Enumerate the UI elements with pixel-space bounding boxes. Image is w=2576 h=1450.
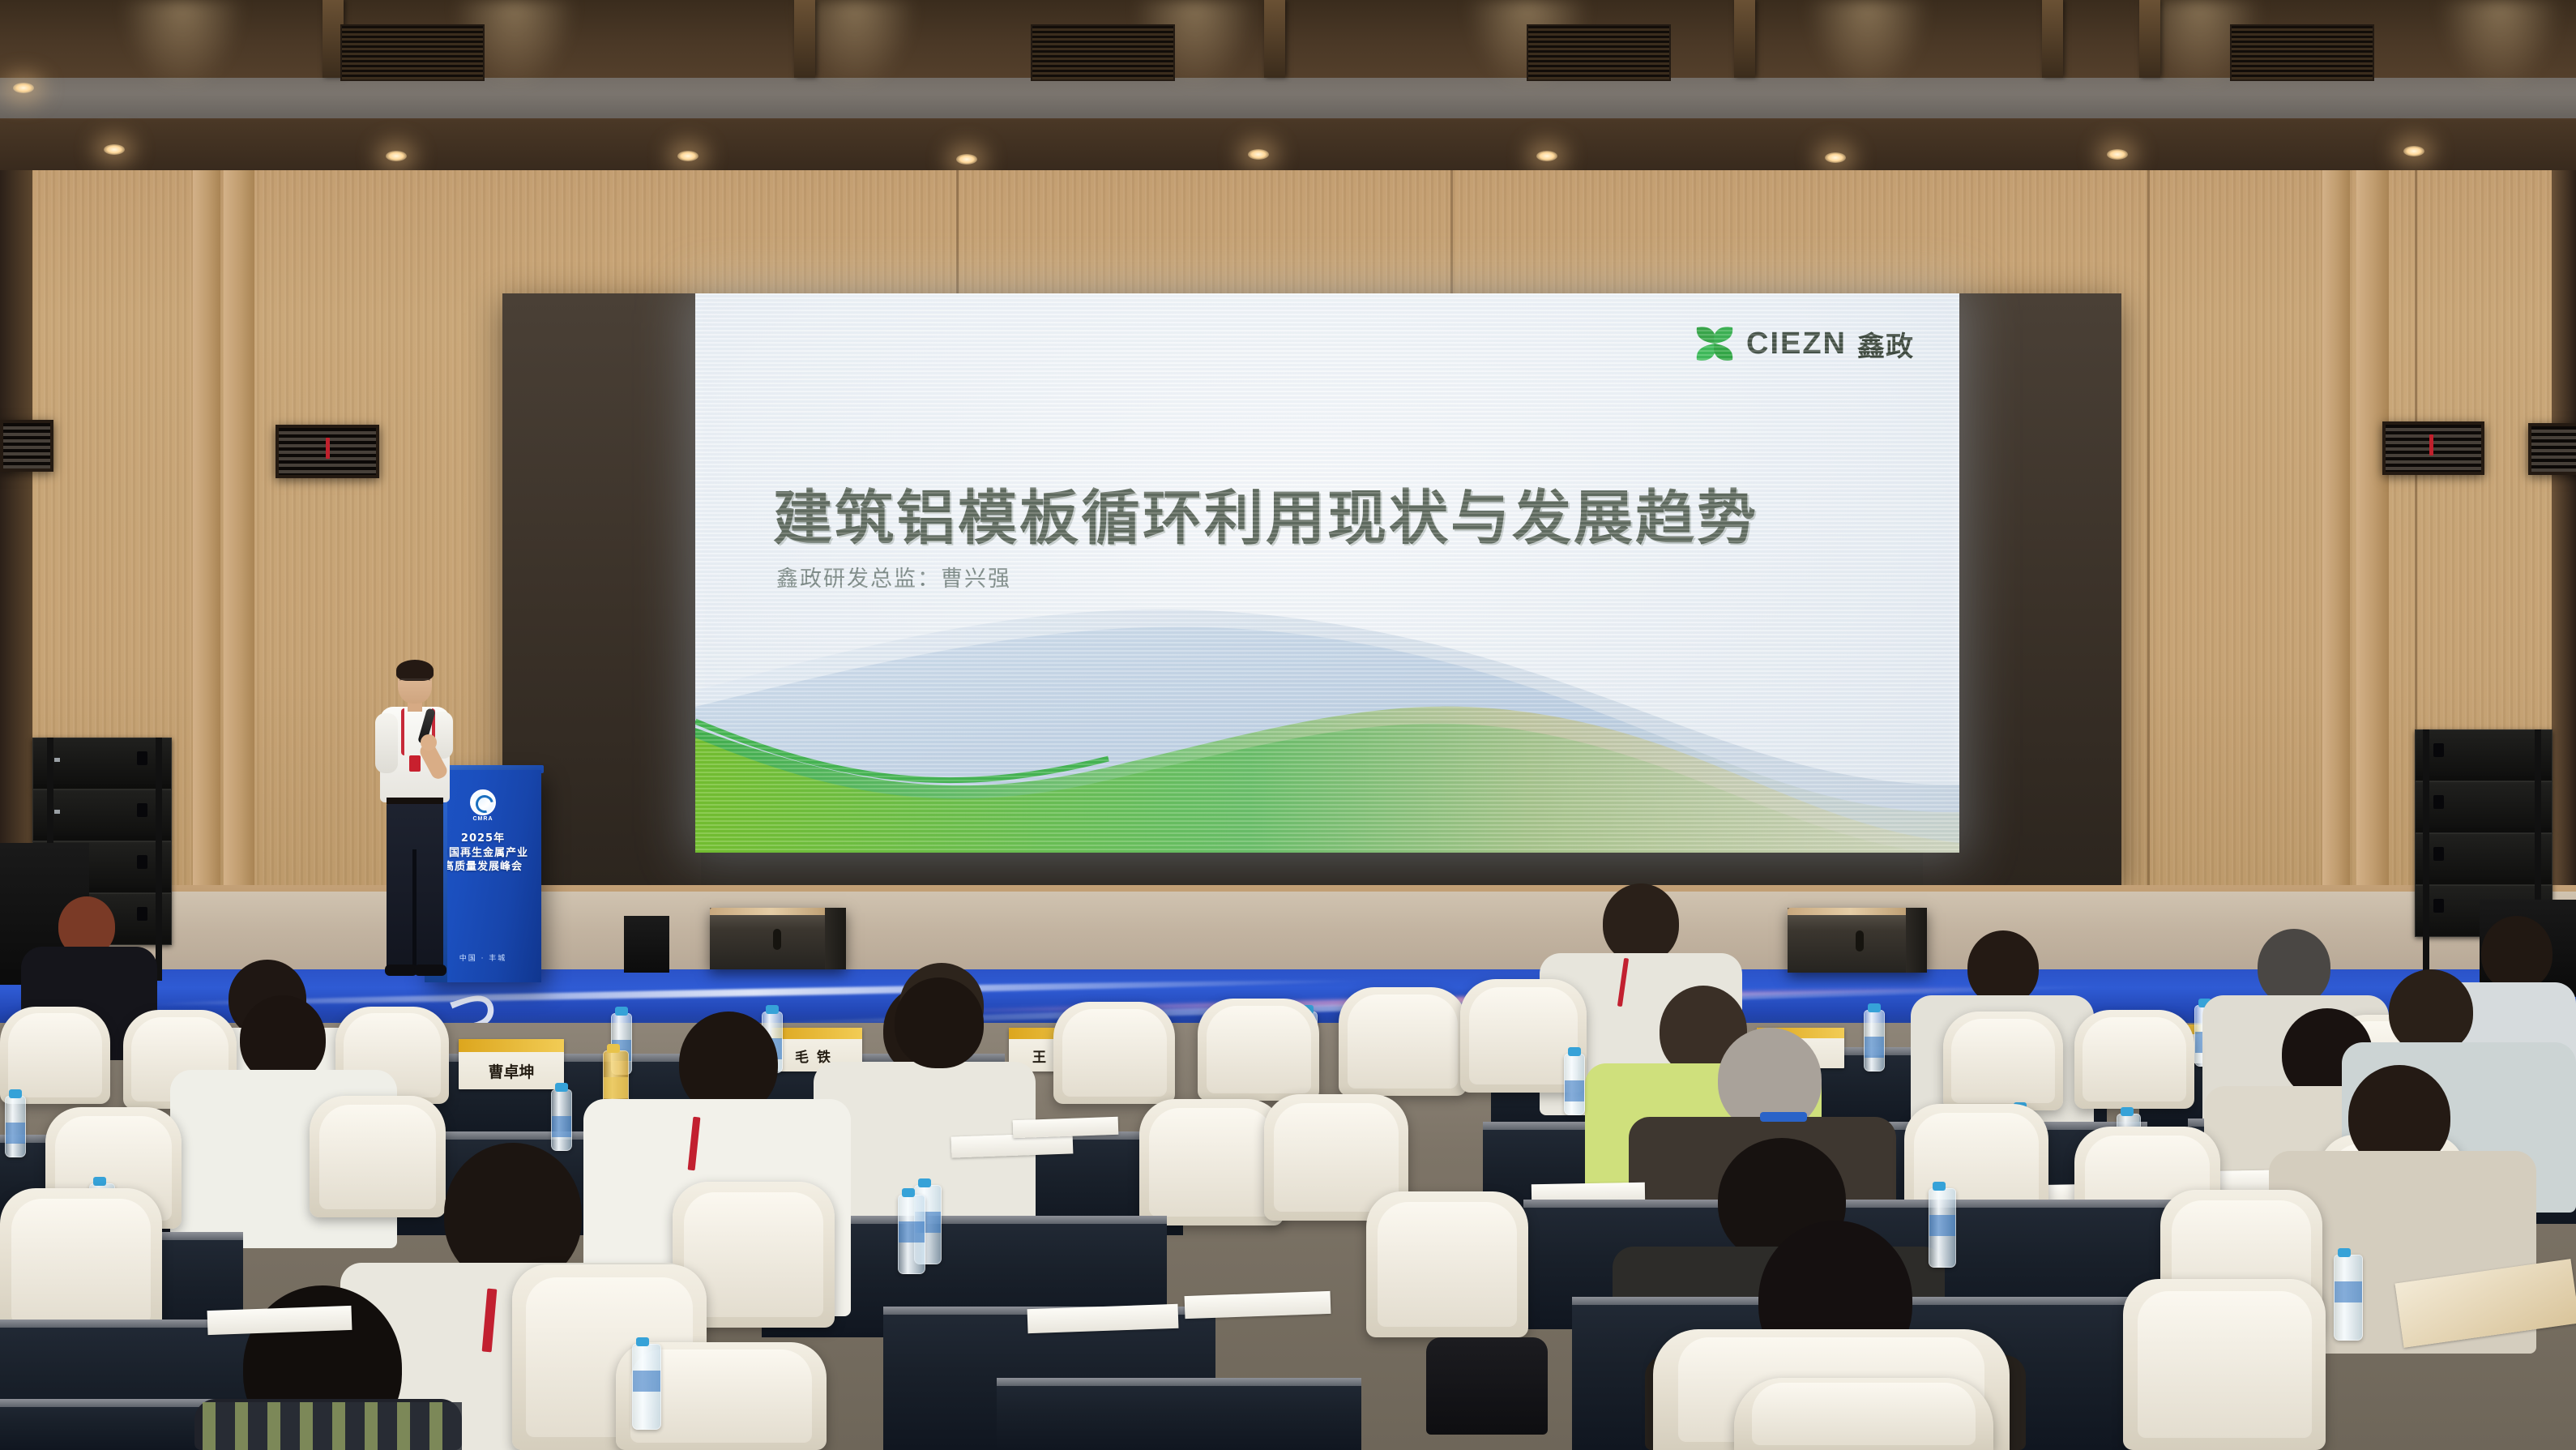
bottle-cap <box>1868 1003 1881 1012</box>
water-bottle <box>632 1344 661 1430</box>
ceiling-beam <box>2139 0 2160 78</box>
attendee-striped-shirt <box>203 1402 462 1450</box>
array-port <box>137 751 147 765</box>
ceiling-beam <box>2042 0 2063 78</box>
bottle-label <box>1565 1080 1584 1101</box>
attendee-head <box>1603 883 1679 963</box>
cmra-circle-icon <box>470 789 496 815</box>
water-bottle <box>5 1096 26 1157</box>
ceiling-downlight <box>956 154 977 165</box>
document-on-table <box>1013 1117 1119 1139</box>
audience-chair <box>0 1188 162 1334</box>
bottle-cap <box>615 1007 628 1016</box>
bottle-cap <box>918 1178 931 1187</box>
bottle-cap <box>93 1177 106 1186</box>
bottle-cap <box>2338 1248 2351 1257</box>
niche-red-marker <box>2429 434 2433 456</box>
presenter-leg-split <box>412 849 417 969</box>
table-name-card: 曹卓坤 <box>459 1039 564 1089</box>
stage-monitor-speaker <box>710 908 846 969</box>
audience-chair <box>2074 1010 2194 1109</box>
audience-chair <box>1139 1099 1284 1225</box>
array-port <box>137 803 147 817</box>
array-rigging-rail <box>2423 729 2429 981</box>
bottle-cap <box>1933 1182 1946 1191</box>
presenter-shoe <box>385 965 417 976</box>
ceiling-vent-grille <box>1031 24 1175 81</box>
ceiling-beam <box>1264 0 1285 78</box>
ceiling-vent-grille <box>340 24 485 81</box>
water-bottle <box>1929 1188 1956 1268</box>
podium-emblem: CMRA <box>469 789 497 822</box>
stage-monitor-speaker <box>1788 908 1927 973</box>
monitor-handle-slot <box>1856 930 1864 952</box>
bottle-label <box>1929 1215 1955 1236</box>
attendee-head <box>2481 916 2553 990</box>
ceiling-downlight <box>2403 146 2424 156</box>
bottle-cap <box>9 1089 22 1098</box>
audience-chair <box>1734 1378 1993 1450</box>
attendee-head <box>1967 930 2039 1005</box>
name-card-band <box>459 1039 564 1052</box>
presenter-badge <box>409 755 421 772</box>
wall-pillar <box>224 170 254 989</box>
table-edge <box>0 1399 227 1407</box>
bottle-cap <box>555 1083 568 1092</box>
array-led-indicator <box>54 810 60 814</box>
ceiling-downlight <box>104 144 125 155</box>
array-port <box>137 855 147 869</box>
wall-niche <box>2382 421 2484 475</box>
monitor-side-face <box>1906 908 1927 973</box>
line-array-module <box>2415 781 2553 833</box>
bottle-cap <box>1568 1047 1581 1056</box>
wall-pillar <box>2322 170 2350 989</box>
slide-logo: CIEZN 鑫政 <box>1694 323 1914 365</box>
attendee-head <box>2258 929 2330 1005</box>
array-port <box>2433 743 2444 757</box>
slide-subtitle: 鑫政研发总监：曹兴强 <box>776 561 1011 592</box>
bottle-label <box>6 1123 25 1144</box>
ceiling-downlight <box>1248 149 1269 160</box>
bottle-cap <box>2121 1107 2134 1116</box>
ceiling-downlight <box>1825 152 1846 163</box>
slide-logo-text: CIEZN <box>1746 327 1847 361</box>
wall-niche <box>276 425 379 478</box>
ceiling-vent-grille <box>1527 24 1671 81</box>
ceiling-cone-light <box>1807 0 1929 88</box>
bottle-label <box>633 1371 660 1392</box>
presenter-hand <box>421 734 437 751</box>
audience-table-row <box>997 1378 1361 1450</box>
wall-seam <box>2147 170 2150 989</box>
bottle-cap <box>902 1188 915 1197</box>
slide-logo-text-cn: 鑫政 <box>1857 324 1914 364</box>
line-array-module <box>2415 833 2553 885</box>
audience-chair <box>2123 1279 2326 1450</box>
bottle-cap <box>766 1005 779 1014</box>
ceiling-cone-light <box>2439 0 2561 88</box>
document-on-table <box>207 1306 352 1335</box>
bottle-label <box>1865 1037 1884 1058</box>
audience-chair <box>1943 1012 2063 1110</box>
niche-red-marker <box>326 438 330 459</box>
attendee-lanyard <box>1760 1112 1807 1122</box>
ceiling-downlight <box>1536 151 1557 161</box>
line-array-module <box>2415 729 2553 781</box>
water-bottle <box>1564 1054 1585 1115</box>
monitor-side-face <box>825 908 846 969</box>
name-card-band <box>771 1028 862 1039</box>
audience-chair <box>1198 999 1319 1101</box>
presenter-shoe <box>414 965 446 976</box>
audience-chair <box>1053 1002 1175 1104</box>
ciezn-green-mark-icon <box>1694 323 1736 365</box>
bottle-label <box>899 1221 925 1243</box>
attendee-head <box>2389 969 2473 1054</box>
table-edge <box>1523 1200 2188 1208</box>
ceiling-downlight <box>13 83 34 93</box>
monitor-handle-slot <box>773 929 781 950</box>
array-port <box>137 907 147 921</box>
array-led-indicator <box>54 758 60 762</box>
bottle-label <box>2335 1281 2362 1302</box>
audience-table-row <box>0 1399 227 1450</box>
attendee-bag <box>1426 1337 1548 1435</box>
table-edge <box>997 1378 1361 1386</box>
audience-chair <box>1366 1191 1528 1337</box>
podium-emblem-text: CMRA <box>469 816 497 822</box>
slide-wave-graphic <box>695 585 1959 853</box>
audience-chair <box>1339 987 1467 1096</box>
wall-niche <box>2528 423 2576 475</box>
bottle-cap <box>636 1337 649 1346</box>
ceiling-downlight <box>386 151 407 161</box>
ceiling-cone-light <box>122 0 243 88</box>
water-bottle <box>1864 1010 1885 1071</box>
water-bottle <box>551 1089 572 1151</box>
ceiling-downlight <box>677 151 698 161</box>
attendee-head <box>895 977 984 1068</box>
ceiling-beam <box>794 0 815 78</box>
water-bottle <box>898 1195 925 1274</box>
wall-pillar <box>193 170 220 989</box>
conference-hall-scene: CIEZN 鑫政 建筑铝模板循环利用现状与发展趋势 鑫政研发总监：曹兴强 つ C… <box>0 0 2576 1450</box>
audience-chair <box>310 1096 446 1217</box>
bottle-label <box>604 1077 628 1098</box>
equipment-case <box>624 916 669 973</box>
array-rigging-rail <box>156 738 162 981</box>
slide-title: 建筑铝模板循环利用现状与发展趋势 <box>773 470 1758 556</box>
eyeglasses-icon <box>399 678 430 687</box>
presenter-belt <box>387 798 443 804</box>
array-port <box>2433 795 2444 809</box>
name-card-text: 曹卓坤 <box>459 1052 564 1089</box>
presenter-sleeve-left <box>375 713 398 773</box>
ceiling-downlight <box>2107 149 2128 160</box>
array-port <box>2433 847 2444 861</box>
ceiling-vent-grille <box>2230 24 2374 81</box>
water-bottle <box>2334 1255 2363 1341</box>
ceiling-beam <box>1734 0 1755 78</box>
wall-niche <box>0 420 53 472</box>
array-port <box>2433 899 2444 913</box>
bottle-label <box>552 1116 571 1137</box>
led-presentation-screen[interactable]: CIEZN 鑫政 建筑铝模板循环利用现状与发展趋势 鑫政研发总监：曹兴强 <box>695 293 1959 853</box>
wall-pillar <box>2356 170 2389 989</box>
bottle-cap <box>607 1044 620 1053</box>
presenter-speaker <box>369 663 459 982</box>
